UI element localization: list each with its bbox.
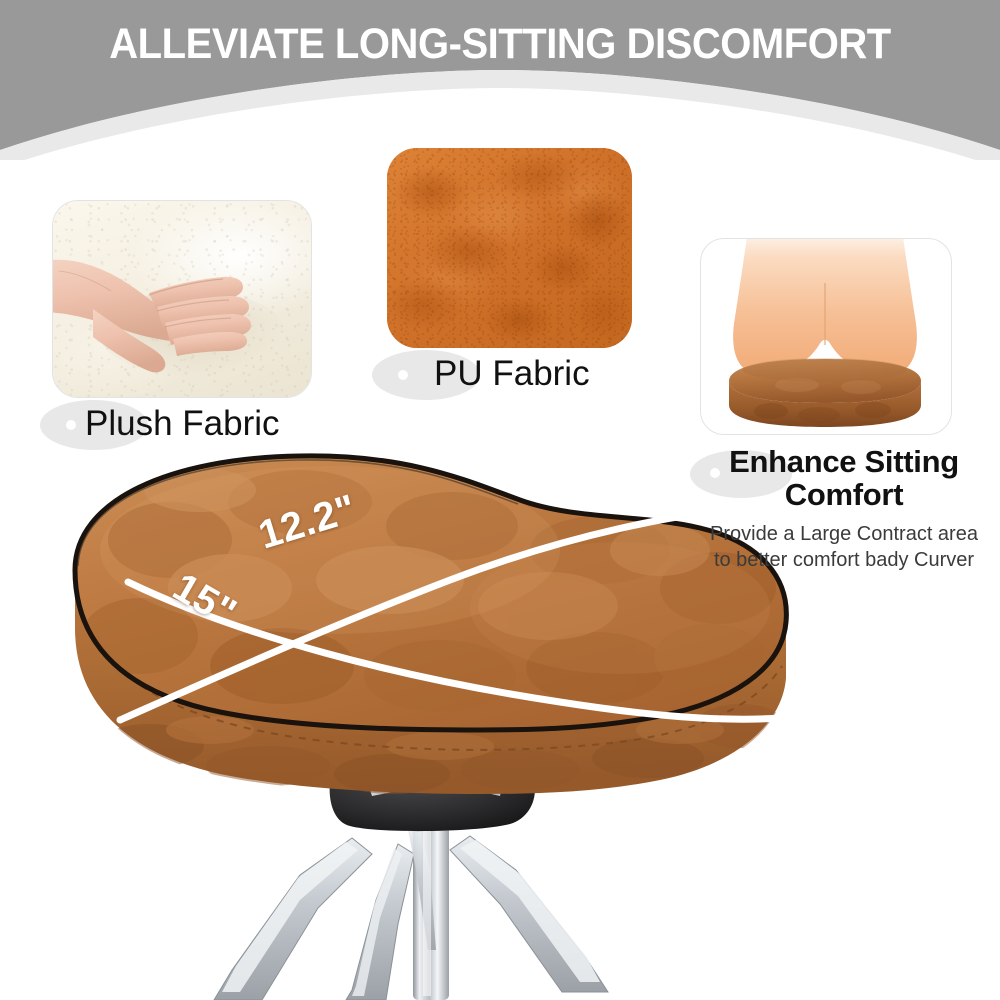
- product-image-saddle-stool: [0, 430, 1000, 1000]
- tag-hole-icon: [398, 370, 408, 380]
- infographic-canvas: ALLEVIATE LONG-SITTING DISCOMFORT: [0, 0, 1000, 1000]
- thumbnail-enhance-comfort: [700, 238, 952, 435]
- thumbnail-plush-fabric: [52, 200, 312, 398]
- label-enhance-comfort: Enhance Sitting Comfort Provide a Large …: [690, 446, 980, 512]
- stool-base: [214, 758, 608, 1000]
- label-text: Plush Fabric: [85, 404, 280, 444]
- pu-leather-grain: [387, 148, 632, 348]
- label-pu-fabric: PU Fabric: [372, 348, 528, 388]
- stool-vector: [0, 430, 1000, 1000]
- header-banner: ALLEVIATE LONG-SITTING DISCOMFORT: [0, 0, 1000, 160]
- thumbnail-pu-fabric: [387, 148, 632, 348]
- comfort-headline: Enhance Sitting Comfort: [708, 446, 980, 512]
- page-title: ALLEVIATE LONG-SITTING DISCOMFORT: [35, 22, 965, 67]
- tag-hole-icon: [66, 420, 76, 430]
- label-text: PU Fabric: [434, 354, 590, 394]
- hand-illustration: [53, 201, 312, 398]
- comfort-description: Provide a Large Contract area to better …: [708, 522, 980, 573]
- body-on-seat-illustration: [701, 239, 952, 435]
